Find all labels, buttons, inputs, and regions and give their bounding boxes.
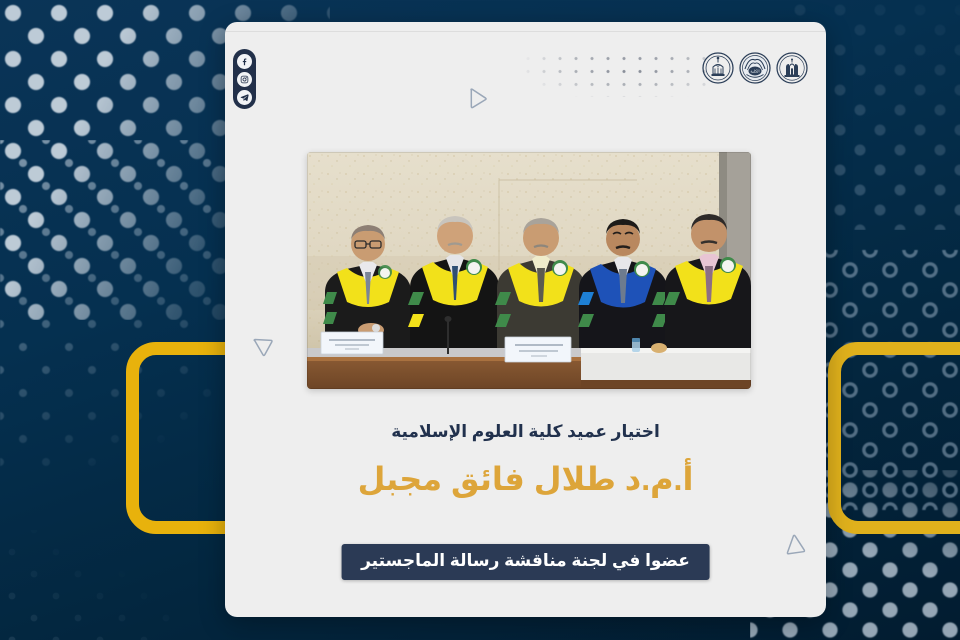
card-top-divider <box>225 31 826 32</box>
dot-grid-decoration <box>520 52 710 97</box>
poster-stage: الكلية <box>0 0 960 640</box>
halftone-pattern-left-fine <box>0 140 260 470</box>
committee-photo-image <box>307 152 751 389</box>
role-badge: عضوا في لجنة مناقشة رسالة الماجستير <box>341 544 710 580</box>
event-subtitle: اختيار عميد كلية العلوم الإسلامية <box>225 422 826 442</box>
triangle-outline-top <box>465 86 492 113</box>
halftone-pattern-bottom-left <box>0 530 170 640</box>
telegram-icon[interactable] <box>237 90 252 105</box>
poster-card: الكلية <box>225 22 826 617</box>
triangle-outline-icon <box>465 86 492 113</box>
college-seal-icon: الكلية <box>739 52 771 84</box>
ministry-seal-icon <box>776 52 808 84</box>
social-links-pill <box>233 49 256 109</box>
committee-photo <box>307 152 751 389</box>
triangle-outline-bottom <box>780 530 809 559</box>
facebook-icon[interactable] <box>237 54 252 69</box>
institution-logos: الكلية <box>702 52 808 84</box>
triangle-outline-icon <box>247 327 282 362</box>
honoree-name: أ.م.د طلال فائق مجبل <box>225 460 826 498</box>
triangle-outline-icon <box>780 530 809 559</box>
svg-text:الكلية: الكلية <box>750 69 759 74</box>
university-seal-icon <box>702 52 734 84</box>
instagram-icon[interactable] <box>237 72 252 87</box>
triangle-outline-left <box>247 327 282 362</box>
